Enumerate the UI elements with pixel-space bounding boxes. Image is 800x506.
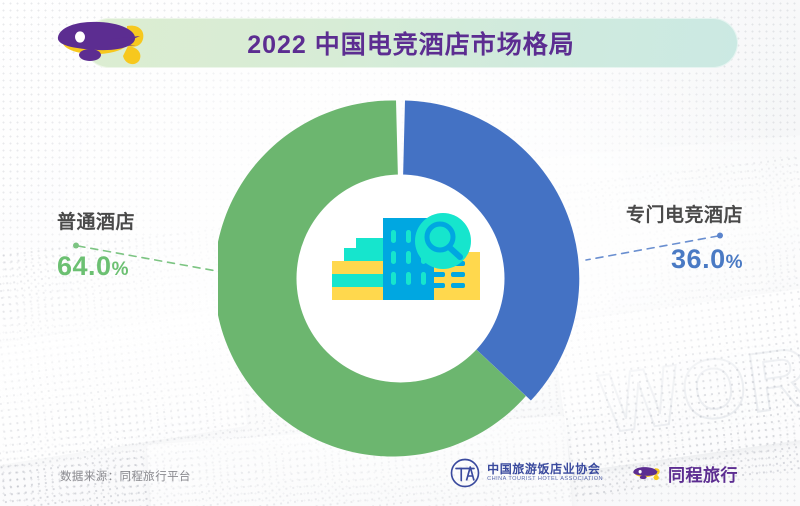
callout-right: 专门电竞酒店 36.0% xyxy=(626,200,743,275)
footer-logos: 中国旅游饭店业协会 CHINA TOURIST HOTEL ASSOCIATIO… xyxy=(450,458,738,488)
infographic-page: WORL 2022 中国电竞酒店市场格局 xyxy=(0,0,800,506)
logo-tongcheng-travel: 同程旅行 xyxy=(629,461,738,486)
callout-right-name: 专门电竞酒店 xyxy=(626,200,743,227)
tongcheng-bird-logo xyxy=(629,464,663,482)
page-title: 2022 中国电竞酒店市场格局 xyxy=(84,18,738,68)
logo-china-tourist-hotel-association: 中国旅游饭店业协会 CHINA TOURIST HOTEL ASSOCIATIO… xyxy=(450,458,603,488)
callout-left: 普通酒店 64.0% xyxy=(57,207,135,282)
callout-left-percent-sign: % xyxy=(112,259,129,280)
chta-name-cn: 中国旅游饭店业协会 xyxy=(487,463,603,476)
callout-right-number: 36.0 xyxy=(671,244,726,274)
callout-left-value: 64.0% xyxy=(57,251,135,282)
tongcheng-bird-logo xyxy=(44,13,154,69)
chta-name-en: CHINA TOURIST HOTEL ASSOCIATION xyxy=(487,477,603,483)
callout-left-number: 64.0 xyxy=(57,251,112,281)
callout-right-value: 36.0% xyxy=(626,244,743,275)
data-source-note: 数据来源：同程旅行平台 xyxy=(60,468,191,484)
chta-logo-text: 中国旅游饭店业协会 CHINA TOURIST HOTEL ASSOCIATIO… xyxy=(487,463,603,483)
callout-right-percent-sign: % xyxy=(726,252,743,273)
callout-left-name: 普通酒店 xyxy=(57,207,135,234)
donut-chart xyxy=(218,96,583,461)
chta-monogram-icon xyxy=(450,458,480,488)
tongcheng-name-cn: 同程旅行 xyxy=(668,461,738,486)
